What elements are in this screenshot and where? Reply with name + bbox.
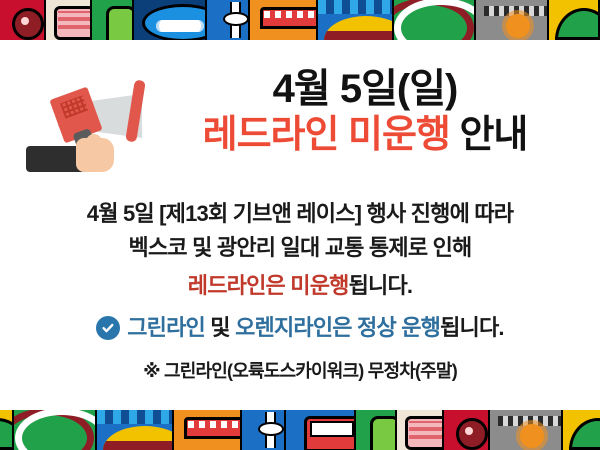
border-tile-red-circle — [0, 0, 46, 40]
border-tile-pink-block — [397, 410, 443, 450]
border-tile-pink-block — [46, 0, 92, 40]
border-tile-tower — [207, 0, 250, 40]
border-pattern-strip — [0, 410, 600, 450]
border-tile-train — [174, 410, 243, 450]
border-tile-train — [250, 0, 318, 40]
border-tile-bridge — [14, 410, 97, 450]
border-tile-yellow-hill — [563, 410, 600, 450]
border-tile-gray-sun — [490, 410, 563, 450]
border-pattern-strip — [0, 0, 600, 40]
border-tile-wave — [318, 0, 394, 40]
body-line-3-black: 됩니다. — [349, 273, 413, 298]
border-tile-wave — [97, 410, 173, 450]
headline-block: 4월 5일(일) 레드라인 미운행 안내 — [150, 68, 580, 156]
border-tile-green-building — [92, 0, 133, 40]
body-line-3-red: 레드라인은 미운행 — [188, 273, 349, 298]
border-tile-tower — [242, 410, 285, 450]
border-tile-bus — [286, 410, 356, 450]
top-decorative-border — [0, 0, 600, 40]
border-tile-yellow-hill — [0, 410, 14, 450]
body-line-4-black-b: 됩니다. — [440, 315, 504, 340]
body-line-2: 벡스코 및 광안리 일대 교통 통제로 인해 — [0, 232, 600, 264]
border-tile-bridge — [394, 0, 476, 40]
border-tile-red-circle — [444, 410, 490, 450]
body-line-4-black-a: 및 — [205, 315, 235, 340]
body-line-4: 그린라인 및 오렌지라인은 정상 운행됩니다. — [0, 312, 600, 345]
body-line-4-text: 그린라인 및 오렌지라인은 정상 운행됩니다. — [127, 312, 504, 344]
body-line-4-blue-b: 오렌지라인은 정상 운행 — [235, 315, 440, 340]
check-row: 그린라인 및 오렌지라인은 정상 운행됩니다. — [96, 312, 504, 344]
notice-poster: 4월 5일(일) 레드라인 미운행 안내 4월 5일 [제13회 기브앤 레이스… — [0, 0, 600, 450]
body-text-block: 4월 5일 [제13회 기브앤 레이스] 행사 진행에 따라 벡스코 및 광안리… — [0, 198, 600, 439]
headline-main-black: 안내 — [450, 114, 527, 156]
body-line-4-blue-a: 그린라인 — [127, 315, 205, 340]
border-tile-gray-sun — [476, 0, 549, 40]
megaphone-icon — [26, 78, 156, 184]
check-circle-icon — [96, 316, 120, 340]
body-line-3: 레드라인은 미운행됩니다. — [0, 270, 600, 302]
border-tile-blue-oval — [134, 0, 207, 40]
body-line-1: 4월 5일 [제13회 기브앤 레이스] 행사 진행에 따라 — [0, 198, 600, 230]
bottom-decorative-border — [0, 410, 600, 450]
headline-date: 4월 5일(일) — [150, 68, 580, 110]
body-line-5-note: ※ 그린라인(오륙도스카이워크) 무정차(주말) — [0, 355, 600, 387]
border-tile-yellow-hill — [549, 0, 600, 40]
border-tile-green-building — [356, 410, 398, 450]
megaphone-thumb — [86, 134, 102, 154]
headline-main: 레드라인 미운행 안내 — [150, 116, 580, 156]
headline-main-red: 레드라인 미운행 — [203, 114, 450, 156]
